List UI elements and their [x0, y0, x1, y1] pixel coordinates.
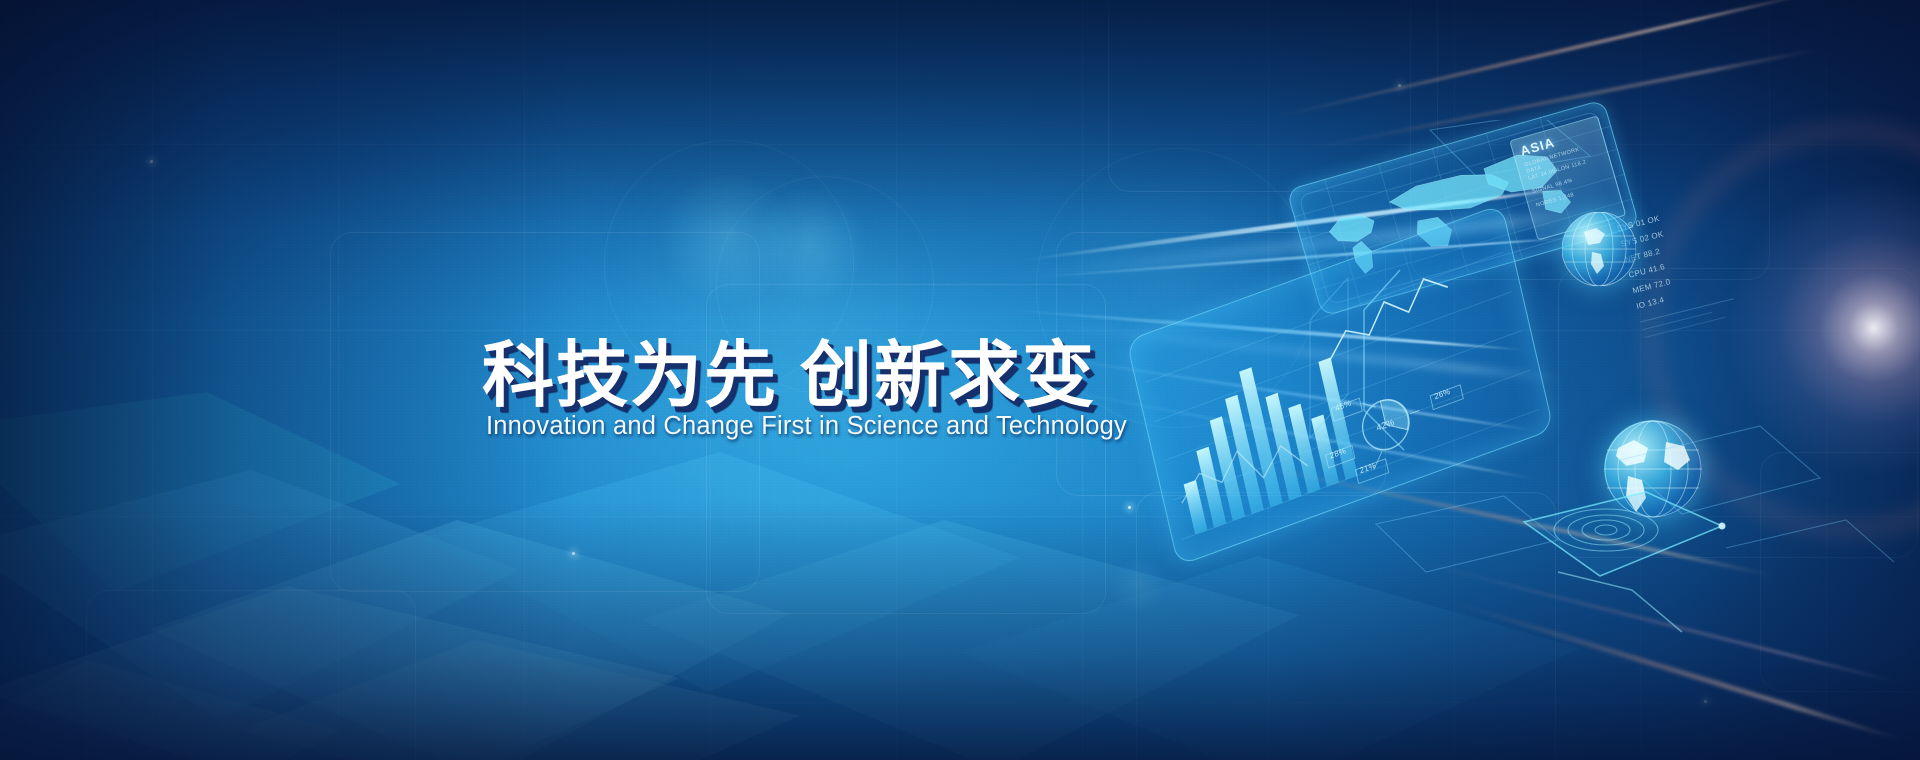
facet-plane	[420, 452, 1020, 692]
bokeh-circle	[1112, 558, 1166, 612]
facet-plane	[0, 586, 680, 760]
spark-dot	[572, 552, 575, 555]
facet-plane	[0, 660, 340, 760]
spark-dot	[1128, 506, 1131, 509]
facet-plane	[150, 520, 790, 760]
light-streak-warm	[1270, 0, 1817, 120]
facet-plane	[0, 392, 400, 592]
page-subtitle: Innovation and Change First in Science a…	[486, 412, 1127, 441]
holo-bar	[1184, 480, 1208, 535]
spark-dot	[1398, 84, 1401, 87]
page-title: 科技为先 创新求变	[482, 316, 1096, 421]
tech-banner: ASIA GLOBAL NETWORK DATA LAT 34.05 LON 1…	[0, 0, 1920, 760]
spark-dot	[150, 160, 153, 163]
bokeh-circle	[662, 172, 794, 304]
facet-plane	[240, 640, 800, 760]
outline-rect	[86, 590, 416, 760]
facet-plane	[0, 470, 520, 720]
bokeh-circle	[754, 188, 866, 300]
spark-dot	[1704, 700, 1707, 703]
